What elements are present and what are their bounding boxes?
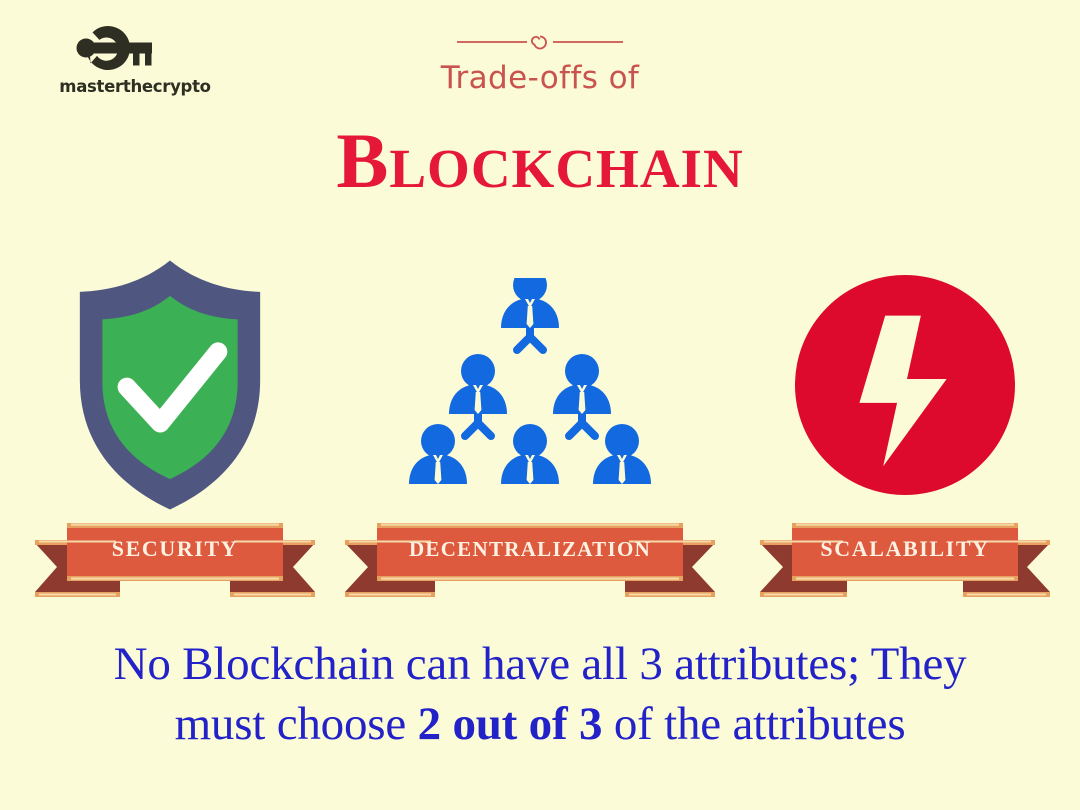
caption-text: No Blockchain can have all 3 attributes;… [40, 634, 1040, 754]
lightning-bolt-circle-icon [750, 250, 1060, 520]
pillar-scalability [750, 250, 1060, 520]
network-people-icon [335, 250, 725, 520]
pillar-decentralization [335, 250, 725, 520]
shield-check-icon [20, 250, 320, 520]
infographic-poster: masterthecrypto Trade-offs of Blockchain [0, 0, 1080, 810]
spiral-divider-icon [455, 30, 625, 54]
caption-line-2-after: of the attributes [602, 698, 905, 750]
caption-emphasis: 2 out of 3 [418, 698, 603, 750]
ribbon-decentralization: DECENTRALIZATION [335, 510, 725, 605]
pillar-security [20, 250, 320, 520]
caption-line-2-before: must choose [175, 698, 418, 750]
page-title: Blockchain [0, 122, 1080, 200]
caption-line-1: No Blockchain can have all 3 attributes;… [114, 638, 967, 690]
ribbon-security: SECURITY [25, 510, 325, 605]
ribbon-scalability: SCALABILITY [750, 510, 1060, 605]
kicker-text: Trade-offs of [0, 60, 1080, 96]
